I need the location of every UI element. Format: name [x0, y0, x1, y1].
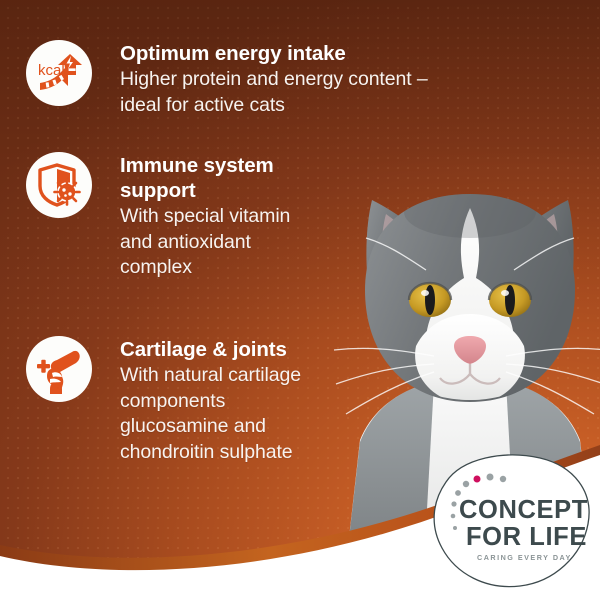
feature-body: Higher protein and energy content – idea… — [120, 67, 428, 118]
feature-title: Optimum energy intake — [120, 41, 428, 66]
brand-logo[interactable]: CONCEPT FOR LIFE CARING EVERY DAY — [428, 452, 596, 592]
feature-title: Cartilage & joints — [120, 337, 301, 362]
logo-tagline: CARING EVERY DAY — [477, 553, 572, 562]
shield-virus-icon — [26, 152, 92, 218]
kcal-energy-arrow-icon: kcal — [26, 40, 92, 106]
feature-body: With natural cartilage components glucos… — [120, 363, 301, 465]
feature-title: Immune system support — [120, 153, 290, 203]
knee-joint-plus-icon — [26, 336, 92, 402]
feature-body: With special vitamin and antioxidant com… — [120, 204, 290, 281]
feature-text-joints: Cartilage & joints With natural cartilag… — [120, 336, 301, 465]
feature-item-joints: Cartilage & joints With natural cartilag… — [26, 336, 301, 465]
feature-text-energy: Optimum energy intake Higher protein and… — [120, 40, 428, 118]
product-feature-poster: kcal Optimum energy intake Highe — [0, 0, 600, 600]
feature-item-energy: kcal Optimum energy intake Highe — [26, 40, 428, 118]
feature-text-immune: Immune system support With special vitam… — [120, 152, 290, 281]
logo-line2: FOR LIFE — [466, 523, 587, 551]
feature-item-immune: Immune system support With special vitam… — [26, 152, 290, 281]
logo-line1: CONCEPT — [459, 496, 588, 524]
